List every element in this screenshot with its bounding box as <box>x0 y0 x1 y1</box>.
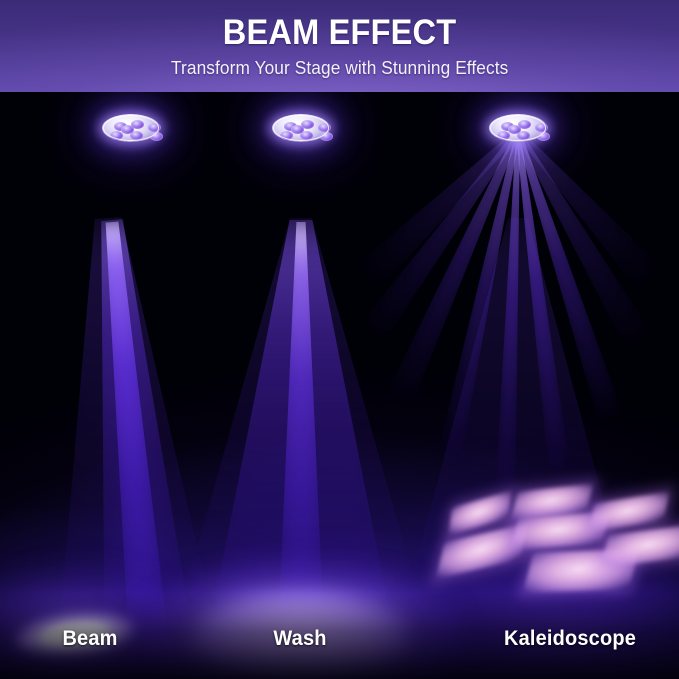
wash-light-cone-wide <box>206 220 396 645</box>
page-title: BEAM EFFECT <box>223 15 457 50</box>
stage-scene: Beam Wash Kaleidoscope <box>0 92 679 679</box>
fixture-kaleidoscope <box>489 114 547 142</box>
beam-light-cone-core <box>92 220 168 642</box>
effect-label-beam: Beam <box>62 627 117 651</box>
fixture-beam <box>102 114 160 142</box>
header-banner: BEAM EFFECT Transform Your Stage with St… <box>0 0 679 92</box>
wash-light-cone-core <box>278 222 324 632</box>
page-subtitle: Transform Your Stage with Stunning Effec… <box>171 59 508 77</box>
fixture-rim <box>273 115 329 141</box>
effect-label-wash: Wash <box>273 627 326 651</box>
fixture-rim <box>103 115 159 141</box>
kaleidoscope-tile <box>601 524 679 568</box>
fixture-rim <box>490 115 546 141</box>
effect-label-row: Beam Wash Kaleidoscope <box>0 587 679 679</box>
fixture-wash <box>272 114 330 142</box>
beam-effect-infographic: BEAM EFFECT Transform Your Stage with St… <box>0 0 679 679</box>
effect-label-kaleidoscope: Kaleidoscope <box>504 627 636 651</box>
